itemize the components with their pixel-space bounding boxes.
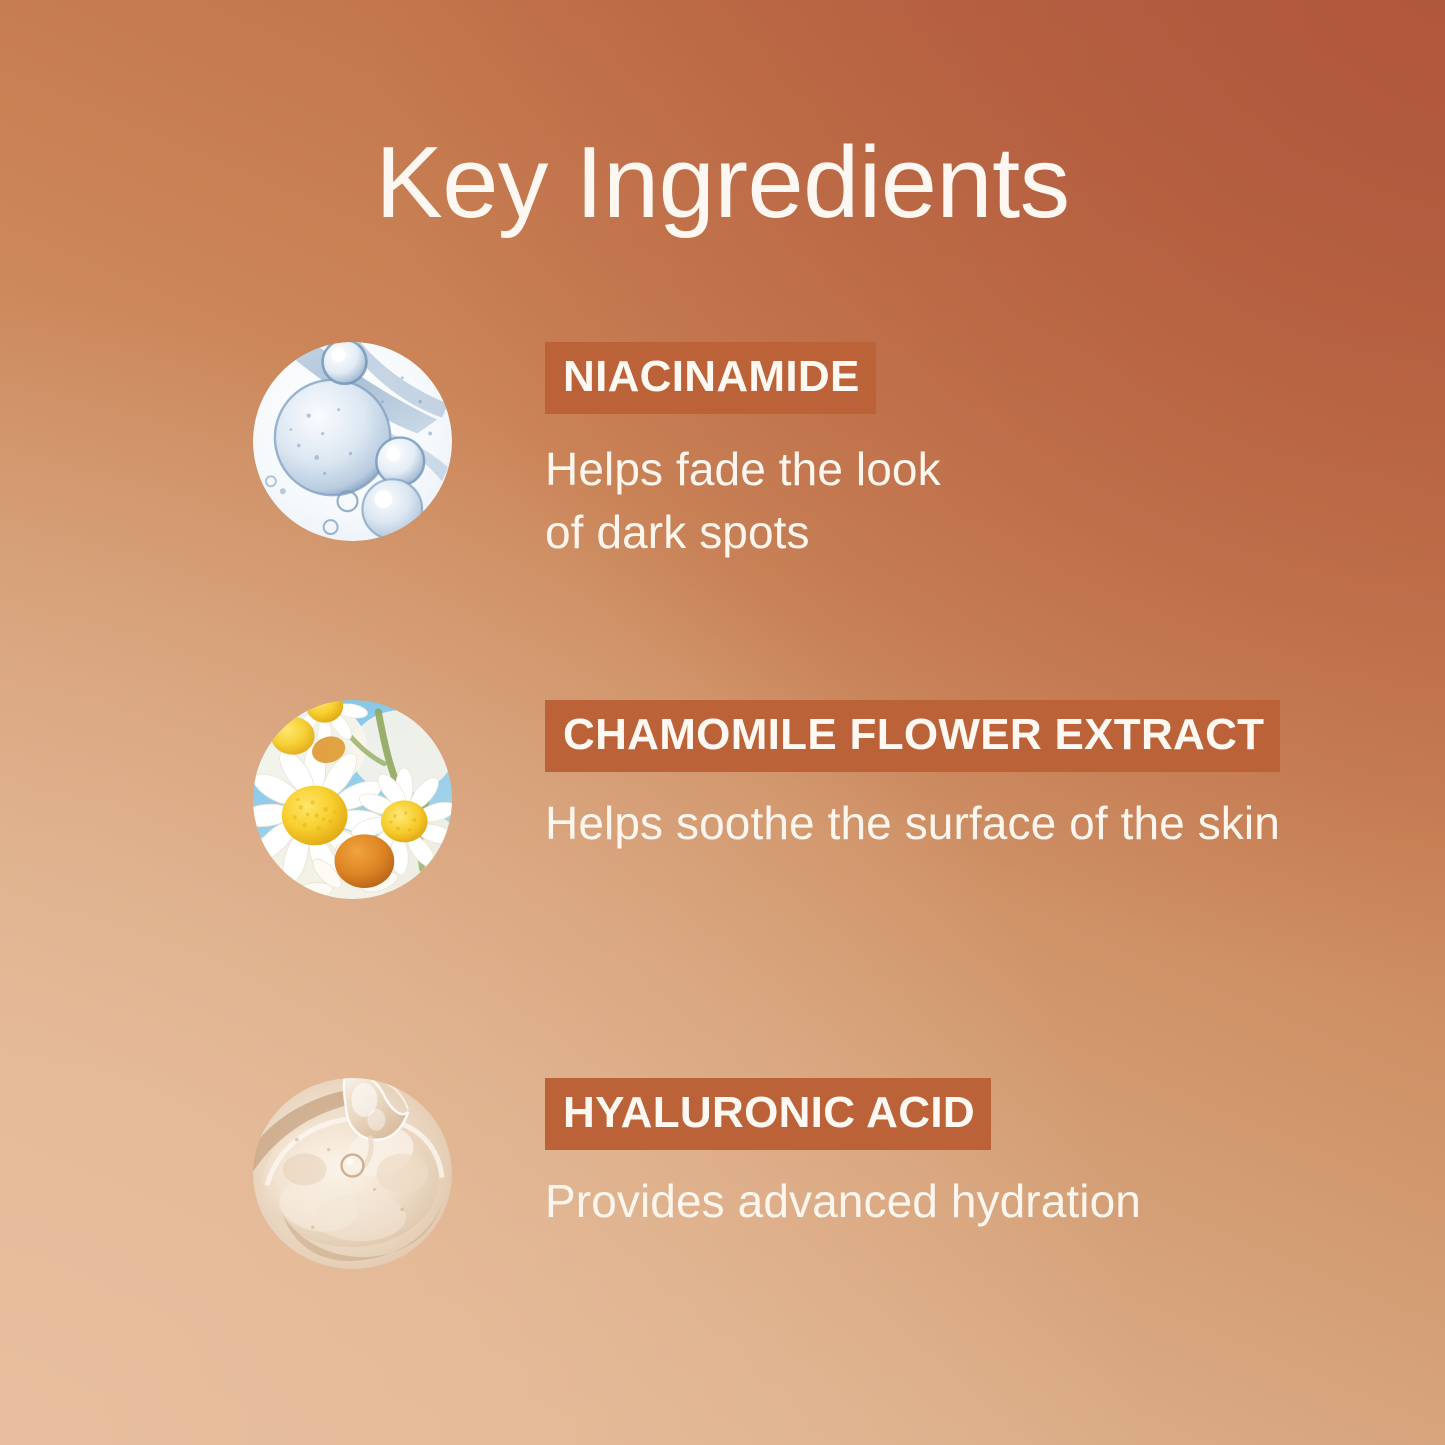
ingredient-description: Helps soothe the surface of the skin (545, 792, 1280, 855)
key-ingredients-panel: Key Ingredients (0, 0, 1445, 1445)
ingredient-description: Provides advanced hydration (545, 1170, 1141, 1233)
ingredient-name-label: NIACINAMIDE (545, 342, 876, 414)
hyaluronic-acid-thumbnail (253, 1078, 452, 1270)
ingredient-description: Helps fade the look of dark spots (545, 438, 941, 563)
hyaluronic-gel-droplet-icon (253, 1078, 452, 1270)
chamomile-flowers-icon (253, 700, 452, 899)
water-bubbles-icon (253, 342, 452, 541)
chamomile-text-block: CHAMOMILE FLOWER EXTRACT Helps soothe th… (545, 700, 1280, 855)
ingredient-name-label: CHAMOMILE FLOWER EXTRACT (545, 700, 1280, 772)
niacinamide-text-block: NIACINAMIDE Helps fade the look of dark … (545, 342, 941, 563)
chamomile-thumbnail (253, 700, 452, 899)
hyaluronic-acid-text-block: HYALURONIC ACID Provides advanced hydrat… (545, 1078, 1141, 1233)
page-title: Key Ingredients (0, 128, 1445, 239)
niacinamide-thumbnail (253, 342, 452, 541)
ingredient-name-label: HYALURONIC ACID (545, 1078, 991, 1150)
